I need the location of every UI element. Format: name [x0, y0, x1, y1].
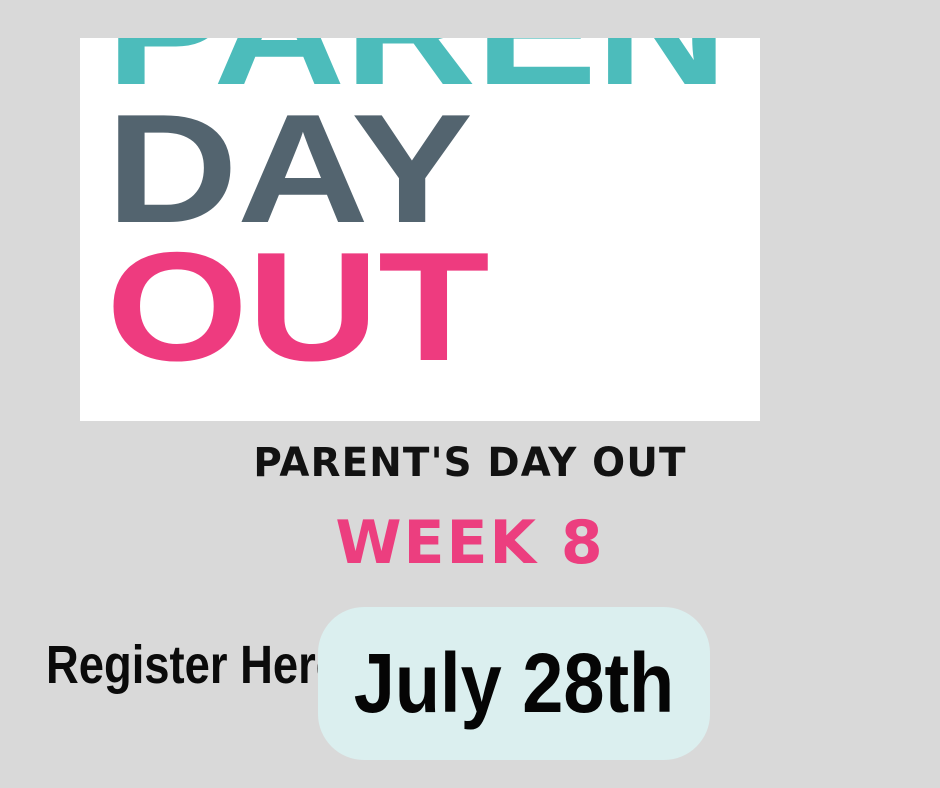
logo-line-day: DAY — [106, 104, 760, 234]
poster-canvas: PARENTS DAY OUT PARENT'S DAY OUT WEEK 8 … — [0, 0, 940, 788]
logo-line-out: OUT — [106, 242, 760, 372]
register-here-link[interactable]: Register Here — [46, 634, 341, 696]
week-subtitle: WEEK 8 — [0, 508, 940, 578]
page-title: PARENT'S DAY OUT — [14, 440, 926, 486]
logo-wordmark: PARENTS DAY OUT — [106, 38, 746, 373]
logo-image-panel: PARENTS DAY OUT — [80, 38, 760, 421]
date-badge-label: July 28th — [342, 607, 687, 760]
date-badge: July 28th — [318, 607, 710, 760]
